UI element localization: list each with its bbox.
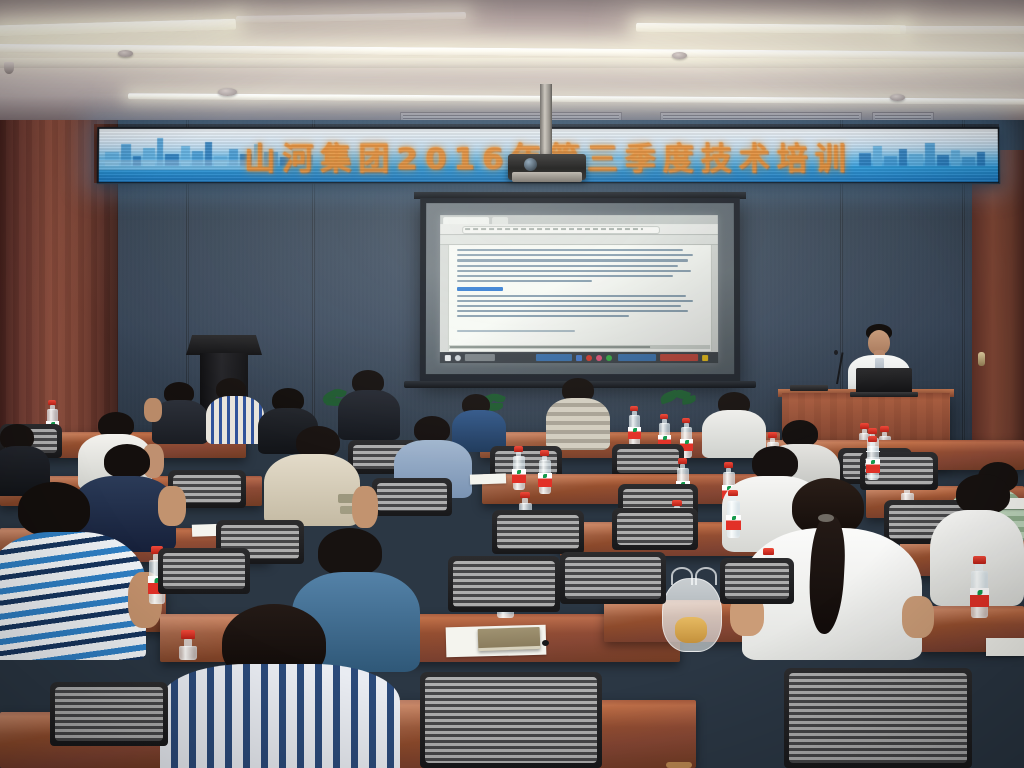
pen-cap	[542, 640, 549, 646]
chair	[492, 510, 584, 554]
document-scrollbar	[448, 345, 710, 349]
chair	[420, 672, 602, 768]
wood-door-right	[972, 150, 1024, 450]
lectern	[186, 335, 262, 355]
ceiling-light-strip	[236, 12, 466, 23]
chair	[448, 556, 560, 612]
projection-screen	[420, 198, 740, 384]
smoke-detector-icon	[672, 52, 687, 59]
water-bottle	[970, 556, 989, 618]
projected-browser-window	[440, 215, 718, 363]
windows-taskbar	[440, 352, 718, 363]
taskbar-app-icon	[536, 354, 572, 361]
taskbar-tray-icon	[702, 355, 708, 361]
ceiling-soffit	[0, 58, 1024, 68]
projector-mount-pole	[540, 84, 552, 158]
projected-document	[448, 245, 712, 351]
document-ribbon-bar	[440, 235, 718, 245]
chair	[372, 478, 452, 516]
water-bottle	[866, 436, 880, 480]
paper-sheet	[470, 473, 506, 484]
hair-tie	[818, 514, 834, 522]
ceiling	[0, 0, 1024, 132]
water-bottle	[628, 406, 641, 446]
water-bottle	[538, 450, 552, 494]
browser-tab	[492, 217, 508, 224]
taskbar-app-icon	[576, 355, 582, 361]
chair	[560, 552, 666, 604]
chair	[158, 548, 250, 594]
chair	[720, 558, 794, 604]
chair	[50, 682, 168, 746]
browser-tab	[443, 217, 489, 224]
door-knob	[978, 352, 985, 366]
chair	[612, 444, 684, 478]
smoke-detector-icon	[218, 88, 237, 96]
taskbar-app-icon	[606, 355, 612, 361]
taskbar-app-icon	[596, 355, 602, 361]
sprinkler-icon	[4, 62, 14, 74]
plastic-bag	[662, 578, 722, 652]
taskbar-app-icon	[586, 355, 592, 361]
water-bottle	[726, 490, 741, 538]
address-text	[465, 228, 643, 230]
chair	[612, 508, 698, 550]
ceiling-light-strip	[636, 23, 906, 34]
microphone-icon	[834, 350, 838, 355]
taskbar-app-icon	[660, 354, 698, 361]
water-bottle	[512, 446, 526, 490]
presenter-laptop-base	[850, 392, 918, 397]
paper-sheet	[986, 638, 1024, 656]
water-bottle	[178, 630, 198, 660]
taskbar-app-icon	[618, 354, 656, 361]
chair	[784, 668, 972, 768]
projection-surface	[426, 203, 734, 374]
browser-address-bar	[440, 224, 718, 235]
start-button-icon	[445, 355, 451, 361]
projector-mount-plate	[512, 172, 582, 182]
desk-equipment	[790, 385, 828, 391]
pen	[666, 762, 692, 768]
ceiling-light-strip	[0, 19, 236, 37]
taskbar-search-box	[465, 354, 495, 361]
ceiling-light-strip	[900, 26, 1024, 34]
presenter-laptop	[856, 368, 912, 394]
document-heading	[457, 287, 503, 290]
search-icon	[455, 355, 461, 361]
browser-tab-bar	[440, 215, 718, 224]
notebook	[478, 627, 541, 651]
smoke-detector-icon	[118, 50, 133, 57]
projector-lens-icon	[524, 158, 537, 171]
conference-room-photo: 山河集团2016年第三季度技术培训	[0, 0, 1024, 768]
